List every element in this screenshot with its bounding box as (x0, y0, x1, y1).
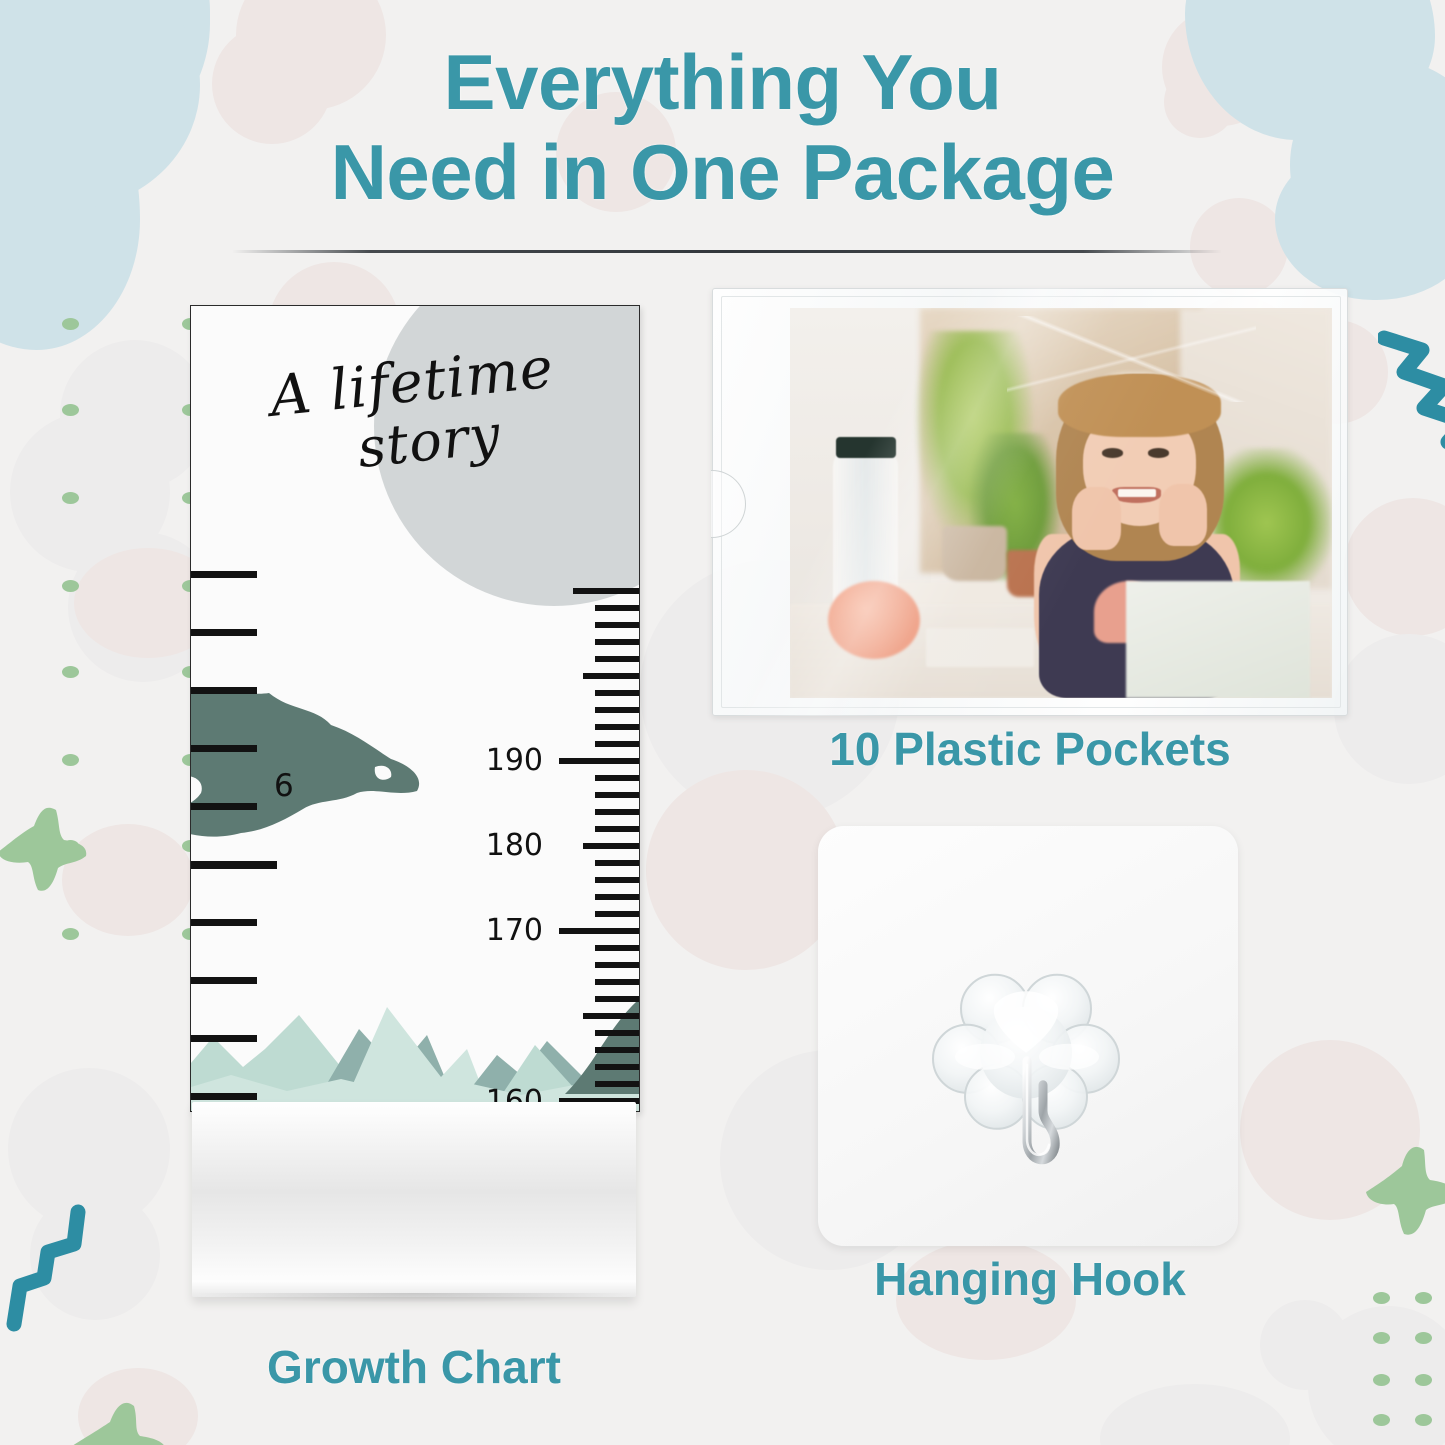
photo-girl-eye (1102, 448, 1124, 457)
decor-teal-zigzag (0, 1202, 110, 1337)
growth-chart-cm-label-180: 180 (486, 828, 543, 863)
decor-green-star (60, 1388, 190, 1445)
page-title: Everything You Need in One Package (0, 44, 1445, 211)
decor-pink-circle (646, 770, 846, 970)
decor-gray-circle (1260, 1300, 1350, 1390)
hanging-hook-product[interactable] (818, 826, 1238, 1246)
photo-flower-pot (942, 526, 1007, 581)
photo-foreground-card (1126, 581, 1310, 698)
growth-chart-product[interactable]: 6 (190, 305, 638, 1305)
decor-gray-circle (1100, 1384, 1290, 1445)
decor-green-star (0, 790, 130, 920)
photo-girl-teeth (1118, 489, 1156, 498)
infographic-canvas: Everything You Need in One Package (0, 0, 1445, 1445)
pocket-photo (790, 308, 1332, 698)
decor-pink-circle (1344, 498, 1445, 636)
title-line-2: Need in One Package (0, 134, 1445, 210)
growth-chart-ruler-left (191, 571, 261, 1111)
photo-paper (926, 628, 1034, 667)
decor-teal-zigzag (1378, 330, 1445, 460)
decor-green-star (1348, 1128, 1445, 1258)
photo-girl-hand (1072, 487, 1121, 549)
photo-plastic-crease (1007, 316, 1256, 402)
growth-chart-cm-label-170: 170 (486, 913, 543, 948)
growth-chart-rolled-bottom (192, 1102, 636, 1297)
photo-girl-eye (1148, 448, 1170, 457)
growth-chart-ruler-right (553, 588, 639, 1111)
caption-hanging-hook: Hanging Hook (810, 1252, 1250, 1306)
caption-plastic-pockets: 10 Plastic Pockets (700, 722, 1360, 776)
growth-chart-feet-label: 6 (274, 768, 294, 804)
plastic-pocket-product[interactable] (712, 288, 1348, 716)
title-line-1: Everything You (444, 38, 1002, 126)
photo-girl-hand (1159, 484, 1208, 546)
hanging-hook-icon (923, 961, 1133, 1196)
photo-bottle-cap (836, 437, 896, 458)
title-divider (232, 250, 1222, 253)
photo-peach (828, 581, 920, 659)
caption-growth-chart: Growth Chart (190, 1340, 638, 1394)
growth-chart-panel: 6 (190, 305, 640, 1112)
growth-chart-cm-label-190: 190 (486, 743, 543, 778)
decor-pink-circle (1190, 198, 1288, 296)
title-text: Everything You Need in One Package (0, 44, 1445, 211)
